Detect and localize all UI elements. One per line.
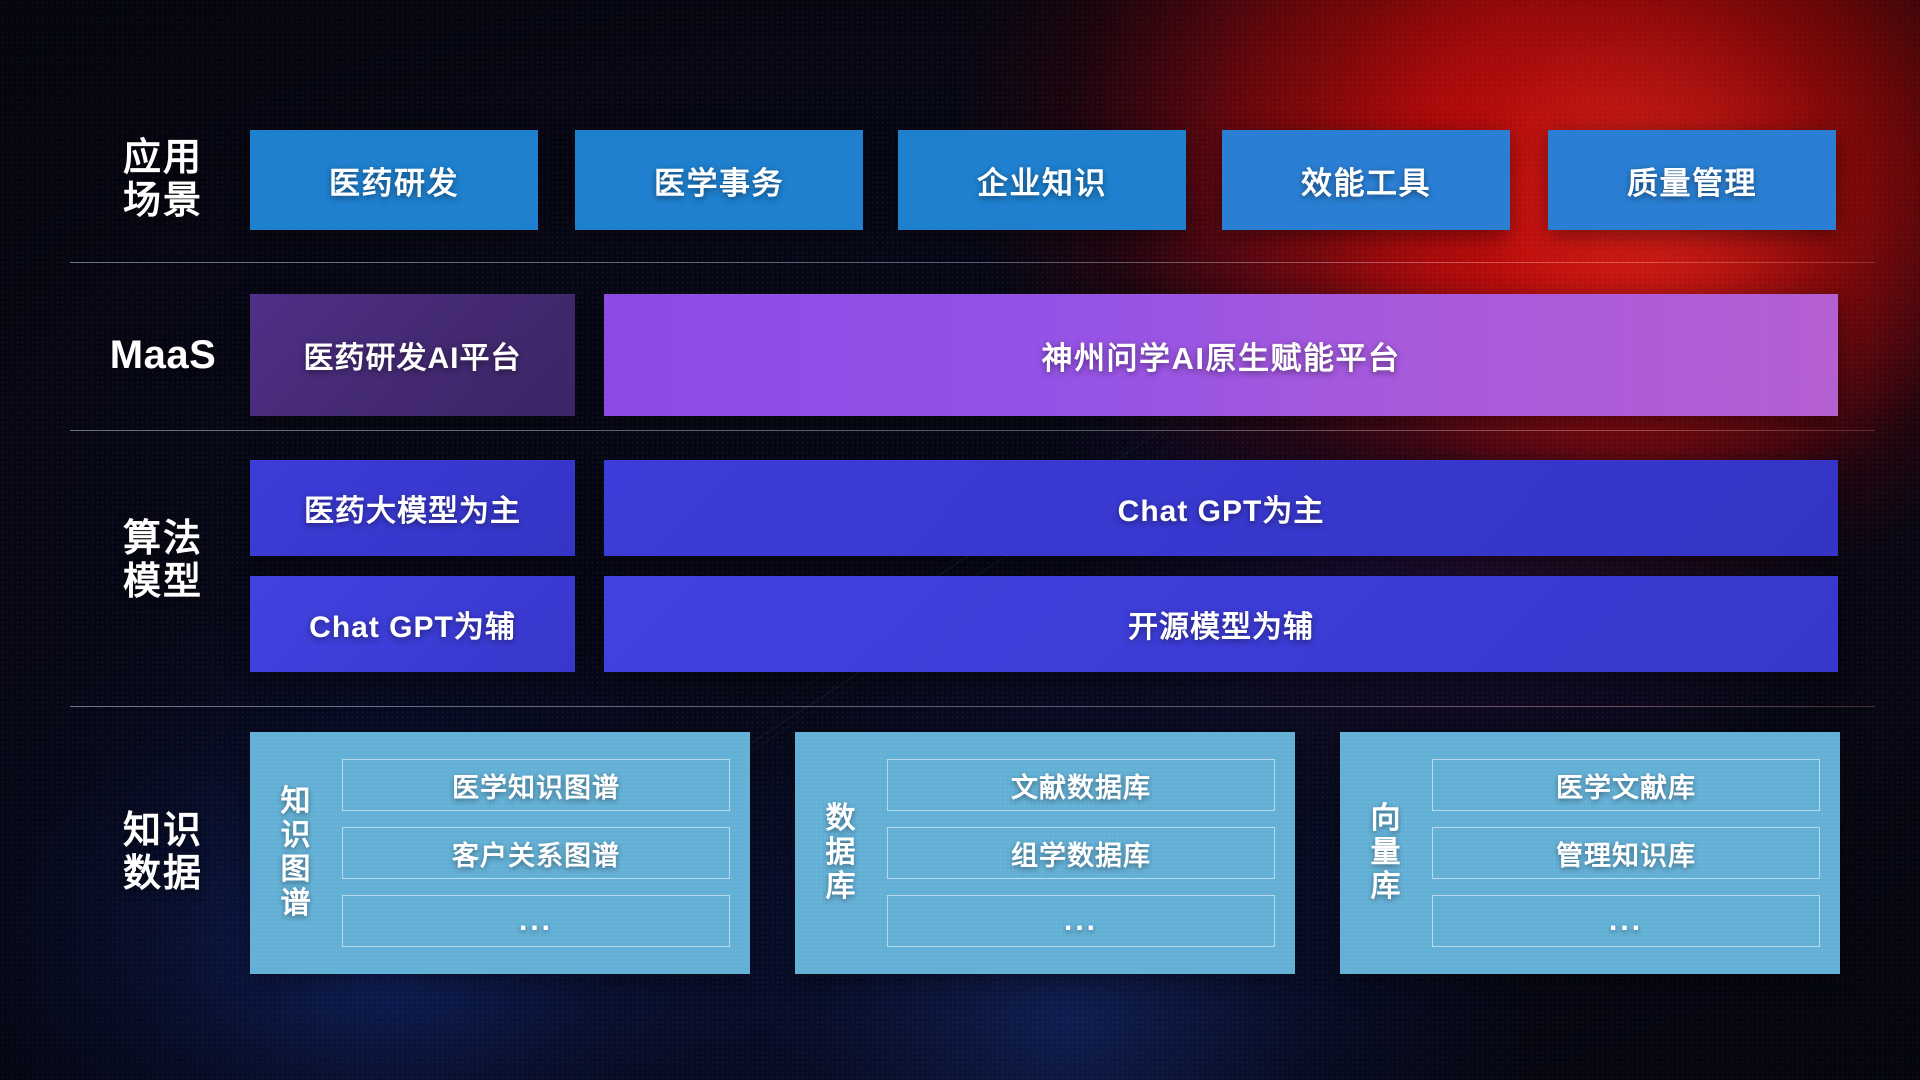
maas-enablement-platform-box[interactable]: 神州问学AI原生赋能平台 (604, 294, 1838, 416)
app-scenario-box-2[interactable]: 医学事务 (575, 130, 863, 230)
knowledge-item[interactable]: ... (342, 895, 730, 947)
knowledge-group-3[interactable]: 向量库医学文献库管理知识库... (1340, 732, 1840, 974)
app-scenario-box-4[interactable]: 效能工具 (1222, 130, 1510, 230)
knowledge-item[interactable]: 文献数据库 (887, 759, 1275, 811)
knowledge-group-1[interactable]: 知识图谱医学知识图谱客户关系图谱... (250, 732, 750, 974)
knowledge-group-side-char: 图 (250, 853, 342, 887)
knowledge-item[interactable]: 组学数据库 (887, 827, 1275, 879)
row-label-algorithm-models: 算法模型 (88, 450, 238, 672)
app-scenario-label: 质量管理 (1627, 158, 1757, 203)
knowledge-group-side-char: 量 (1340, 836, 1432, 870)
app-scenario-label: 效能工具 (1301, 158, 1431, 203)
maas-enablement-platform-label: 神州问学AI原生赋能平台 (1042, 333, 1401, 378)
row-divider (70, 430, 1875, 431)
knowledge-group-items-3: 医学文献库管理知识库... (1432, 745, 1840, 961)
row-label-line1: 知识 (123, 810, 203, 853)
maas-platform-label: 医药研发AI平台 (304, 333, 522, 377)
knowledge-item[interactable]: 客户关系图谱 (342, 827, 730, 879)
row-label-text: MaaS (110, 333, 217, 378)
knowledge-group-items-1: 医学知识图谱客户关系图谱... (342, 745, 750, 961)
algorithm-model-label: Chat GPT为辅 (309, 602, 516, 646)
knowledge-item[interactable]: 医学知识图谱 (342, 759, 730, 811)
row-label-line2: 场景 (123, 180, 203, 223)
knowledge-group-side-char: 谱 (250, 887, 342, 921)
algorithm-model-box-2[interactable]: Chat GPT为主 (604, 460, 1838, 556)
knowledge-group-items-2: 文献数据库组学数据库... (887, 745, 1295, 961)
algorithm-model-box-4[interactable]: 开源模型为辅 (604, 576, 1838, 672)
knowledge-item[interactable]: ... (887, 895, 1275, 947)
algorithm-model-label: 开源模型为辅 (1128, 602, 1314, 646)
algorithm-model-label: Chat GPT为主 (1118, 486, 1325, 530)
app-scenario-label: 医药研发 (329, 158, 459, 203)
knowledge-group-side-label-3: 向量库 (1340, 802, 1432, 905)
row-divider (70, 262, 1875, 263)
row-label-line2: 数据 (123, 853, 203, 896)
row-label-line1: 算法 (123, 518, 203, 561)
knowledge-group-side-char: 库 (1340, 870, 1432, 904)
knowledge-group-side-label-1: 知识图谱 (250, 785, 342, 922)
knowledge-group-side-char: 据 (795, 836, 887, 870)
app-scenario-box-5[interactable]: 质量管理 (1548, 130, 1836, 230)
row-label-knowledge-data: 知识数据 (88, 732, 238, 974)
app-scenario-box-1[interactable]: 医药研发 (250, 130, 538, 230)
algorithm-model-box-3[interactable]: Chat GPT为辅 (250, 576, 575, 672)
knowledge-item[interactable]: 医学文献库 (1432, 759, 1820, 811)
knowledge-group-side-label-2: 数据库 (795, 802, 887, 905)
row-label-maas: MaaS (88, 280, 238, 430)
row-label-line2: 模型 (123, 561, 203, 604)
knowledge-item[interactable]: 管理知识库 (1432, 827, 1820, 879)
knowledge-group-side-char: 识 (250, 819, 342, 853)
maas-platform-box[interactable]: 医药研发AI平台 (250, 294, 575, 416)
knowledge-group-side-char: 向 (1340, 802, 1432, 836)
diagram-stage: 应用场景医药研发医学事务企业知识效能工具质量管理MaaS医药研发AI平台神州问学… (0, 0, 1920, 1080)
algorithm-model-label: 医药大模型为主 (304, 486, 521, 530)
app-scenario-box-3[interactable]: 企业知识 (898, 130, 1186, 230)
row-label-line1: 应用 (123, 137, 203, 180)
knowledge-group-2[interactable]: 数据库文献数据库组学数据库... (795, 732, 1295, 974)
knowledge-group-side-char: 知 (250, 785, 342, 819)
algorithm-model-box-1[interactable]: 医药大模型为主 (250, 460, 575, 556)
row-divider (70, 706, 1875, 707)
knowledge-group-side-char: 库 (795, 870, 887, 904)
knowledge-item[interactable]: ... (1432, 895, 1820, 947)
app-scenario-label: 医学事务 (654, 158, 784, 203)
knowledge-group-side-char: 数 (795, 802, 887, 836)
app-scenario-label: 企业知识 (977, 158, 1107, 203)
row-label-application-scenarios: 应用场景 (88, 112, 238, 248)
